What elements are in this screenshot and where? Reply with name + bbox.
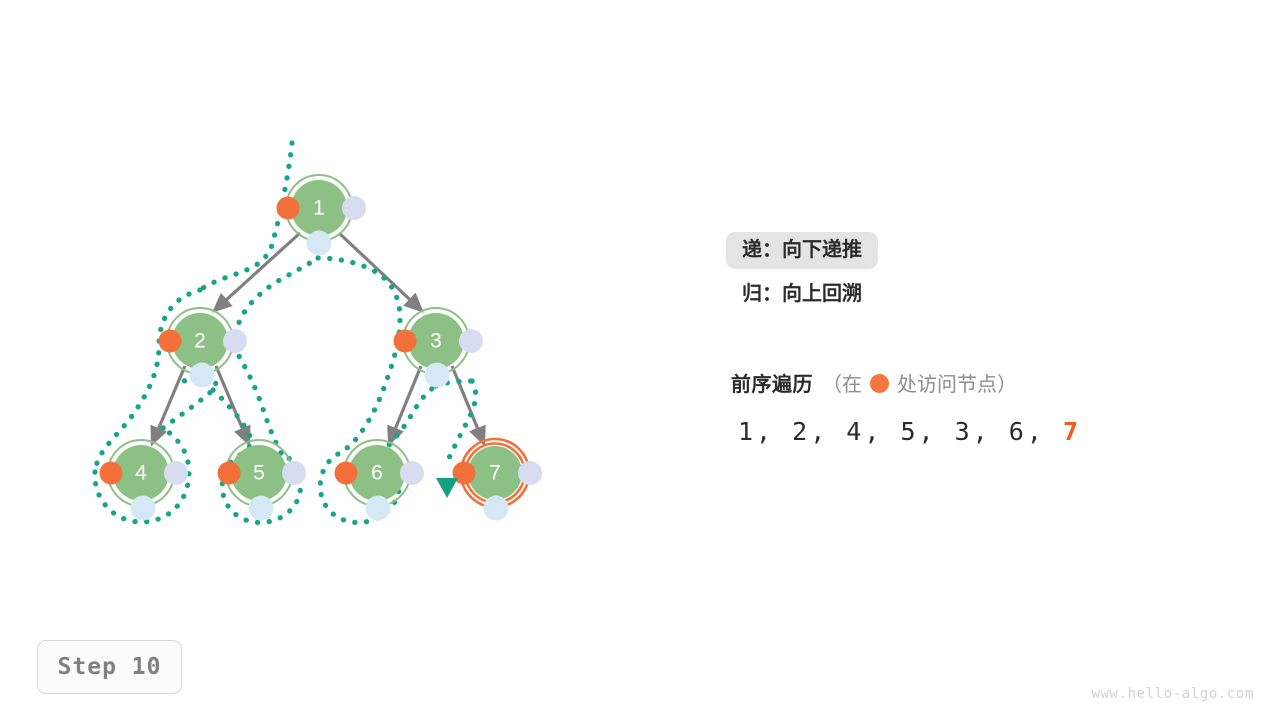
- node-6-bottom-dot: [366, 496, 391, 521]
- node-5-right-dot: [282, 461, 306, 485]
- path-root-right: [318, 258, 400, 454]
- orange-dot-icon: [870, 374, 889, 393]
- path-5-up: [236, 258, 318, 453]
- legend-panel: 递：向下递推 归：向上回溯 前序遍历 （在 处访问节点） 1, 2, 4, 5,…: [726, 228, 1196, 446]
- tree-node-7[interactable]: 7: [453, 439, 543, 521]
- node-6-right-dot: [400, 461, 424, 485]
- node-1-label: 1: [313, 197, 325, 220]
- path-4-to-5: [163, 380, 216, 428]
- node-7-right-dot: [518, 461, 542, 485]
- binary-tree-diagram: 1 2 3 4: [0, 0, 640, 600]
- edge-1-3: [339, 233, 422, 311]
- node-4-right-dot: [164, 461, 188, 485]
- node-7-bottom-dot: [484, 496, 509, 521]
- tree-node-5[interactable]: 5: [218, 440, 307, 521]
- node-2-label: 2: [194, 330, 206, 353]
- step-badge: Step 10: [37, 640, 182, 694]
- traversal-sequence-prefix: 1, 2, 4, 5, 3, 6,: [738, 417, 1045, 446]
- legend-recurse-label: 递：向下递推: [726, 232, 878, 269]
- node-5-visit-dot: [218, 462, 241, 485]
- node-3-bottom-dot: [425, 363, 450, 388]
- step-badge-label: Step 10: [58, 654, 162, 680]
- tree-node-4[interactable]: 4: [100, 440, 189, 521]
- watermark-text: www.hello-algo.com: [1091, 686, 1254, 702]
- tree-node-6[interactable]: 6: [335, 440, 425, 521]
- node-1-visit-dot: [277, 197, 300, 220]
- edge-3-7: [452, 366, 484, 444]
- legend-backtrack-label: 归：向上回溯: [726, 276, 878, 313]
- node-3-right-dot: [459, 329, 483, 353]
- path-root-entry: [200, 143, 292, 290]
- down-triangle-pointer-icon: [436, 478, 458, 498]
- watermark: www.hello-algo.com: [1091, 686, 1254, 702]
- node-2-visit-dot: [159, 330, 182, 353]
- node-4-bottom-dot: [131, 496, 156, 521]
- tree-node-2[interactable]: 2: [159, 308, 248, 388]
- node-2-right-dot: [223, 329, 247, 353]
- traversal-note-open: （在: [822, 368, 862, 397]
- traversal-title: 前序遍历: [731, 368, 813, 397]
- node-6-label: 6: [371, 462, 383, 485]
- illustration-canvas: 1 2 3 4: [0, 0, 1280, 720]
- legend-spacer: [726, 316, 1196, 368]
- legend-row-recurse: 递：向下递推: [726, 228, 1196, 272]
- node-7-label: 7: [489, 462, 501, 485]
- node-5-bottom-dot: [249, 496, 274, 521]
- node-1-right-dot: [342, 196, 366, 220]
- edge-2-5: [216, 366, 249, 444]
- node-4-visit-dot: [100, 462, 123, 485]
- node-5-label: 5: [253, 462, 265, 485]
- node-4-label: 4: [135, 462, 147, 485]
- node-3-label: 3: [430, 330, 442, 353]
- traversal-sequence: 1, 2, 4, 5, 3, 6, 7: [726, 417, 1196, 446]
- node-3-visit-dot: [394, 330, 417, 353]
- tree-node-3[interactable]: 3: [394, 308, 484, 388]
- legend-row-backtrack: 归：向上回溯: [726, 272, 1196, 316]
- traversal-title-row: 前序遍历 （在 处访问节点）: [726, 368, 1196, 397]
- edge-1-2: [214, 233, 300, 311]
- traversal-note-close: 处访问节点）: [897, 368, 1017, 397]
- node-1-bottom-dot: [307, 231, 332, 256]
- node-2-bottom-dot: [190, 363, 215, 388]
- node-6-visit-dot: [335, 462, 358, 485]
- traversal-sequence-current: 7: [1063, 417, 1081, 446]
